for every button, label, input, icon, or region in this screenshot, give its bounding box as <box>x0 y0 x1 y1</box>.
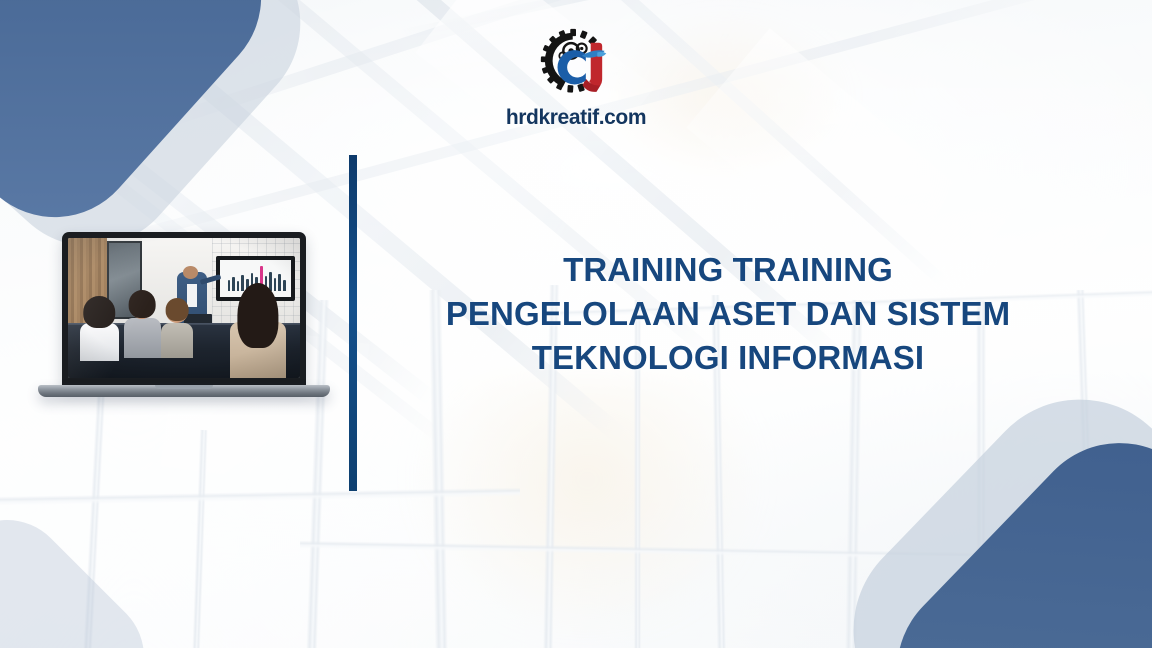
scene-attendee <box>80 300 119 362</box>
laptop-hinge-notch <box>155 385 213 389</box>
gear-g-logo-icon <box>535 28 617 100</box>
banner-canvas: hrdkreatif.com TRAINING TRAINING PENGELO… <box>0 0 1152 648</box>
training-meeting-photo <box>68 238 300 378</box>
brand-logo-block: hrdkreatif.com <box>0 28 1152 130</box>
banner-title-line-1: TRAINING TRAINING <box>392 248 1064 292</box>
banner-title-block: TRAINING TRAINING PENGELOLAAN ASET DAN S… <box>392 248 1064 380</box>
scene-attendee <box>124 294 161 358</box>
scene-attendee <box>161 301 193 358</box>
brand-name-text: hrdkreatif.com <box>506 106 646 130</box>
scene-presenter-head <box>183 266 198 279</box>
banner-title-line-3: TEKNOLOGI INFORMASI <box>392 336 1064 380</box>
laptop-mockup <box>38 232 330 418</box>
laptop-lid <box>62 232 306 387</box>
laptop-screen <box>68 238 300 378</box>
banner-title-line-2: PENGELOLAAN ASET DAN SISTEM <box>392 292 1064 336</box>
vertical-divider-bar <box>349 155 357 491</box>
scene-attendee-foreground <box>230 288 286 378</box>
